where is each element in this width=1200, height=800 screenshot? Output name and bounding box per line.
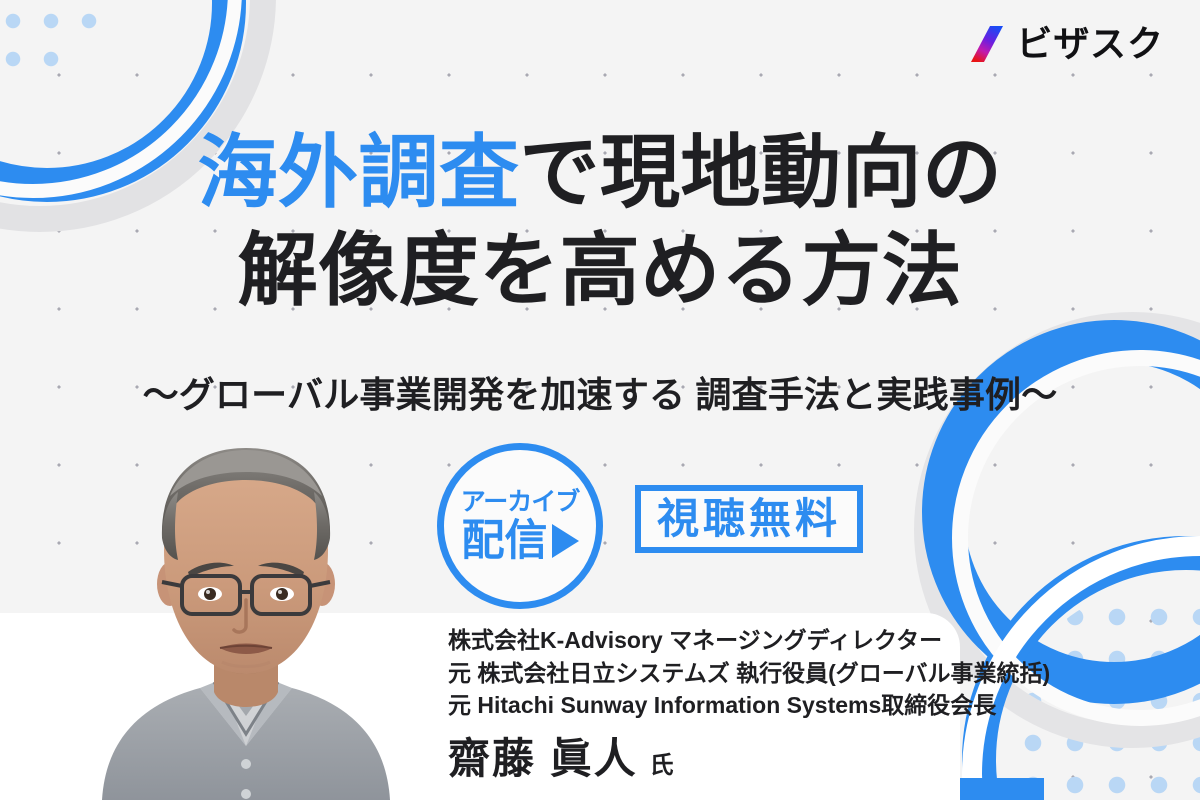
headline-line-1-rest: で現地動向の	[520, 128, 1003, 217]
headline-block: 海外調査で現地動向の 解像度を高める方法	[0, 124, 1200, 319]
speaker-credential-3: 元 Hitachi Sunway Information Systems取締役会…	[448, 689, 1050, 722]
speaker-credential-1: 株式会社K-Advisory マネージングディレクター	[448, 624, 1050, 657]
brand-logo: ビザスク	[970, 24, 1164, 64]
speaker-details: 株式会社K-Advisory マネージングディレクター 元 株式会社日立システム…	[448, 624, 1050, 780]
speaker-name-suffix: 氏	[650, 754, 674, 778]
archive-badge-main: 配信	[462, 520, 579, 563]
headline-line-1: 海外調査で現地動向の	[0, 124, 1200, 222]
speaker-credential-2: 元 株式会社日立システムズ 執行役員(グローバル事業統括)	[448, 657, 1050, 690]
archive-badge-top-label: アーカイブ	[461, 490, 580, 515]
free-viewing-badge: 視聴無料	[635, 485, 863, 553]
archive-badge-main-label: 配信	[462, 520, 548, 563]
webinar-banner: ビザスク 海外調査で現地動向の 解像度を高める方法 〜グローバル事業開発を加速す…	[0, 0, 1200, 800]
speaker-name: 齋藤 眞人	[448, 738, 638, 780]
play-triangle-icon	[552, 524, 579, 558]
slash-gradient-icon	[970, 24, 1004, 64]
free-viewing-badge-label: 視聴無料	[657, 498, 841, 540]
speaker-portrait	[96, 434, 396, 800]
headline-subtitle: 〜グローバル事業開発を加速する 調査手法と実践事例〜	[0, 366, 1200, 418]
brand-logo-text: ビザスク	[1016, 26, 1164, 62]
archive-badge: アーカイブ 配信	[437, 443, 603, 609]
headline-accent-text: 海外調査	[198, 128, 520, 217]
speaker-name-row: 齋藤 眞人 氏	[448, 738, 1050, 780]
headline-line-2: 解像度を高める方法	[0, 222, 1200, 320]
